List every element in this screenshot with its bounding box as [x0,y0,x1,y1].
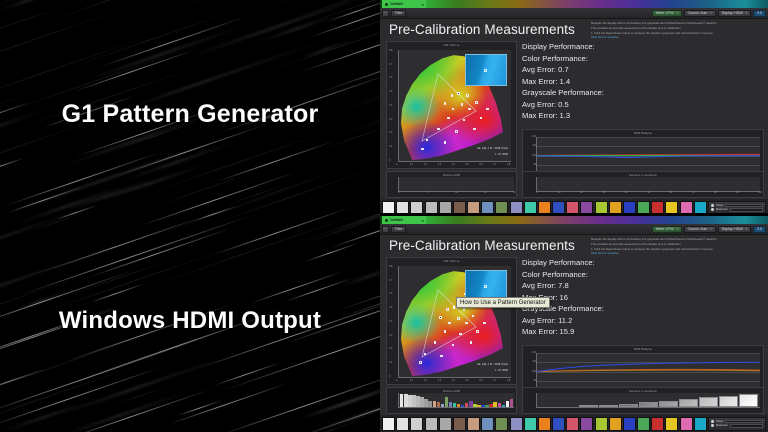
chevron-down-icon: ▾ [710,227,712,231]
color-swatch [382,417,395,431]
cie-measurement-point [466,94,469,97]
color-swatch [651,417,664,431]
grayscale-step-bars [537,393,760,407]
meter-dropdown-label: Meter: i1Pro [656,227,674,231]
output-levels-caption-bottom: Gamma / Luminance [523,389,763,393]
numeric-readout: 0.0 [753,226,766,234]
display-dropdown-label: Display: HDMI [722,11,743,15]
bar [465,403,468,407]
cie-measurement-point [446,308,449,311]
chevron-down-icon: ▾ [746,227,748,231]
cie-y-tick: 0.8 [389,265,392,268]
meter-dropdown-label: Meter: i1Pro [656,11,674,15]
cie-y-tick: 0.1 [389,361,392,364]
x-axis-tick: 20 [513,192,516,194]
rgb-balance-caption-top: RGB Balance [523,131,763,135]
panel-divider [380,213,768,216]
cie-measurement-point [468,108,471,111]
app-tab-top[interactable]: CalMAN × [382,0,426,8]
source-dropdown[interactable]: Source: Auto ▾ [684,10,715,18]
instruction-line-1: Measure the display with a combination o… [591,21,765,25]
title-gradient-strip-bottom: CalMAN × [380,216,768,224]
cie-y-tick: 0.3 [389,118,392,121]
app-tab-bottom[interactable]: CalMAN × [382,216,426,224]
cie-caption-top: CIE 1931 xy [387,43,516,47]
cie-measurement-point [452,344,455,347]
metric-row: Avg Error: 0.7 [522,64,632,76]
cie-x-tick: 0.4 [452,379,455,382]
cie-x-tick: 0.6 [479,379,482,382]
instructions-top: Measure the display with a combination o… [591,21,765,40]
calman-window-bottom: CalMAN × Files Meter: i1Pro ▾ Source: Au… [380,216,768,432]
meter-row-label: Measured [716,208,728,211]
grayscale-bar [579,405,597,407]
meter-dropdown[interactable]: Meter: i1Pro ▾ [652,226,682,234]
delta-e-caption-top: Delta E 2000 [387,173,516,177]
x-axis-tick: 0 [536,192,537,194]
grayscale-bar [679,399,697,407]
cie-y-tick: 0.2 [389,131,392,134]
bar [493,402,496,407]
bar [485,405,488,407]
y-axis-tick: 110 [532,361,536,363]
toolbar-left-group-bottom: Files [382,226,406,233]
delta-e-caption-bottom: Delta E 2000 [387,389,516,393]
output-levels-plot-top: 0102030405060708090100 [536,177,760,192]
bar [400,394,403,407]
cie-x-tick: 0.7 [493,379,496,382]
grayscale-bar [619,404,637,407]
delta-e-plot-top: 05101520 [398,177,514,192]
meter-row-label: Target [716,420,723,423]
bar [412,395,415,407]
cie-y-tick: 0.8 [389,49,392,52]
cie-x-tick: 0.2 [424,163,427,166]
bar [502,405,505,407]
source-dropdown-label: Source: Auto [688,227,707,231]
x-axis-tick: 70 [692,192,695,194]
cie-measurement-point [483,322,486,325]
metric-row: Display Performance: [522,41,632,53]
color-swatch [481,417,494,431]
title-gradient-strip-top: CalMAN × [380,0,768,8]
bar [433,401,436,407]
y-axis-tick: 90 [533,380,536,382]
metric-row: Avg Error: 0.5 [522,99,632,111]
toolbar-right-group-top: Meter: i1Pro ▾ Source: Auto ▾ Display: H… [652,10,766,18]
meter-row: Target [711,204,763,208]
left-label-top: G1 Pattern Generator [0,100,380,129]
cie-measurement-point [457,92,460,95]
x-axis-tick: 10 [455,192,458,194]
app-tab-label: CalMAN [390,218,403,222]
x-axis-tick: 40 [625,192,628,194]
grayscale-bar [719,396,737,407]
cie-measurement-point [486,108,489,111]
cie-x-tick: 0.6 [479,163,482,166]
cie-y-tick: 0.1 [389,145,392,148]
bar [461,405,464,407]
cie-measurement-point [476,330,479,333]
cie-measurement-point [439,316,442,319]
line-series-group [537,353,760,390]
cie-measurement-point [424,353,427,356]
cie-x-tick: 0 [396,379,397,382]
x-axis-tick: 30 [603,192,606,194]
instruction-line-3: 1. Click the Read Series button to measu… [591,31,765,35]
page-title-top: Pre-Calibration Measurements [389,22,575,37]
x-axis-tick: 50 [647,192,650,194]
meter-row-label: Measured [716,424,728,427]
cie-measurement-point [444,330,447,333]
cie-x-tick: 0.5 [465,163,468,166]
color-swatch [552,417,565,431]
instruction-line-2: This provides an accurate assessment of … [591,242,765,246]
grayscale-bar [739,394,757,407]
close-icon[interactable]: × [422,2,424,7]
bar [449,402,452,407]
cie-measurement-point [421,148,424,151]
output-levels-plot-bottom [536,393,760,408]
display-dropdown-label: Display: HDMI [722,227,743,231]
y-axis-tick: 120 [532,136,536,138]
toolbar-left-group-top: Files [382,10,406,17]
cie-measurement-point [463,308,466,311]
cie-measurement-point [452,108,455,111]
metric-row: Grayscale Performance: [522,87,632,99]
cie-measurement-point [426,139,429,142]
x-axis-tick: 20 [580,192,583,194]
output-levels-chart-top[interactable]: Gamma / Luminance 0102030405060708090100 [522,171,764,198]
numeric-readout: 0.0 [753,10,766,18]
cie-caption-bottom: CIE 1931 xy [387,259,516,263]
cie-measurement-point [455,130,458,133]
instruction-line-4: Click Next to continue. [591,251,765,255]
bar [510,399,513,407]
cie-y-tick: 0.2 [389,347,392,350]
color-swatch [694,417,707,431]
cie-measurement-point [453,306,456,309]
bar [408,395,411,407]
metric-row: Avg Error: 11.2 [522,315,632,327]
bar [404,394,407,407]
cie-x-tick: 0.7 [493,163,496,166]
cie-measurement-point [472,315,475,318]
meter-readout-box[interactable]: TargetMeasured [708,417,766,431]
metric-row: Color Performance: [522,269,632,281]
cie-measurement-point [473,128,476,131]
cie-measurement-point [448,322,451,325]
cie-measurement-point [440,355,443,358]
panel-body-top: Pre-Calibration Measurements Measure the… [380,19,768,199]
color-swatch [410,417,423,431]
color-swatch [396,417,409,431]
color-swatch [580,417,593,431]
x-axis-tick: 0 [398,192,399,194]
cie-y-tick: 0.5 [389,306,392,309]
cie-measurement-point [444,141,447,144]
instructions-bottom: Measure the display with a combination o… [591,237,765,256]
delta-e-plot-bottom [398,393,514,408]
bar [420,397,423,407]
x-axis-tick: 15 [484,192,487,194]
cie-measurement-point [459,333,462,336]
cie-measurement-point [461,103,464,106]
meter-row: Target [711,420,763,424]
cie-measurement-point [434,341,437,344]
status-dot-icon [711,208,714,211]
cie-note-line1-top: SE, CIE, 2 Pt - RGB Triplet [477,147,508,150]
cie-y-tick: 0.4 [389,320,392,323]
x-axis-tick: 80 [714,192,717,194]
instruction-line-2: This provides an accurate assessment of … [591,26,765,30]
cie-chromaticity-chart-bottom[interactable]: CIE 1931 xy SE, CIE, 2 Pt - RGB Triplet … [386,257,517,385]
cie-measurement-point [437,128,440,131]
metric-row: Display Performance: [522,257,632,269]
cie-y-tick: 0.6 [389,76,392,79]
cie-x-tick: 0.4 [452,163,455,166]
page-title-bottom: Pre-Calibration Measurements [389,238,575,253]
meter-value-field [725,420,763,424]
color-swatch [680,417,693,431]
y-axis-tick: 120 [532,352,536,354]
y-axis-tick: 100 [532,155,536,157]
grayscale-bar [699,397,717,407]
output-levels-chart-bottom[interactable]: Gamma / Luminance [522,387,764,414]
cie-x-tick: 0.3 [438,163,441,166]
chevron-down-icon: ▾ [677,11,679,15]
metric-row: Max Error: 1.4 [522,76,632,88]
files-button[interactable]: Files [391,10,406,17]
menu-icon[interactable] [382,226,389,233]
cie-y-tick: 0.5 [389,90,392,93]
left-label-bottom: Windows HDMI Output [0,307,380,335]
source-dropdown[interactable]: Source: Auto ▾ [684,226,715,234]
cie-y-tick: 0.3 [389,334,392,337]
x-axis-tick: 100 [758,192,762,194]
cie-measurement-point [447,117,450,120]
display-dropdown[interactable]: Display: HDMI ▾ [718,10,752,18]
files-button[interactable]: Files [391,226,406,233]
cie-x-tick: 0.8 [507,163,510,166]
y-axis-tick: 110 [532,145,536,147]
streak-texture [0,0,380,432]
cie-note-line2-top: 1 - 2C 2000 [494,153,508,156]
meter-value-field [730,208,763,212]
color-swatch [453,417,466,431]
status-dot-icon [711,204,714,207]
cie-y-tick: 0 [389,159,390,162]
color-swatch [439,417,452,431]
color-swatch [595,417,608,431]
colorchecker-swatch-strip-bottom: TargetMeasured [380,415,768,432]
toolbar-top: Files Meter: i1Pro ▾ Source: Auto ▾ Disp… [380,8,768,19]
instruction-line-4: Click Next to continue. [591,35,765,39]
grayscale-bar [659,401,677,407]
cie-y-tick: 0.7 [389,279,392,282]
x-axis-tick: 90 [736,192,739,194]
cie-note-line1-bottom: SE, CIE, 2 Pt - RGB Triplet [477,363,508,366]
cie-x-tick: 0 [396,163,397,166]
cie-measurement-point [457,317,460,320]
panel-body-bottom: Pre-Calibration Measurements Measure the… [380,235,768,415]
cie-note-line2-bottom: 1 - 2C 2000 [494,369,508,372]
inset-target-marker [484,69,487,72]
delta-e-chart-bottom[interactable]: Delta E 2000 [386,387,517,414]
bar [498,403,501,407]
bar [477,405,480,407]
metric-row: Avg Error: 7.8 [522,280,632,292]
calman-window-top: CalMAN × Files Meter: i1Pro ▾ Source: Au… [380,0,768,216]
cie-x-tick: 0.3 [438,379,441,382]
delta-e-bars [399,393,514,407]
instruction-line-3: 1. Click the Read Series button to measu… [591,247,765,251]
meter-row: Measured [711,424,763,428]
cie-y-tick: 0.6 [389,292,392,295]
toolbar-right-group-bottom: Meter: i1Pro ▾ Source: Auto ▾ Display: H… [652,226,766,234]
chevron-down-icon: ▾ [746,11,748,15]
cie-measurement-point [419,361,422,364]
bar [469,401,472,407]
bar [424,399,427,407]
metric-row: Color Performance: [522,53,632,65]
cie-y-tick: 0.4 [389,104,392,107]
instruction-line-1: Measure the display with a combination o… [591,237,765,241]
cie-y-tick: 0 [389,375,390,378]
cie-plot-area-bottom: SE, CIE, 2 Pt - RGB Triplet 1 - 2C 2000 [398,266,511,378]
rgb-balance-plot-bottom: 1201101009080051015202530354045505560657… [536,353,760,391]
rgb-balance-plot-top: 1201101009080051015202530354045505560657… [536,137,760,175]
cie-chromaticity-chart-top[interactable]: CIE 1931 xy SE, CIE, 2 Pt - RGB Triplet … [386,41,517,169]
cie-plot-area-top: SE, CIE, 2 Pt - RGB Triplet 1 - 2C 2000 [398,50,511,162]
meter-row-label: Target [716,204,723,207]
close-icon[interactable]: × [422,218,424,223]
status-dot-icon [711,420,714,423]
grayscale-bar [639,402,657,407]
color-swatch [467,417,480,431]
calman-logo-icon [385,219,388,222]
color-swatch [495,417,508,431]
cie-measurement-point [465,322,468,325]
source-dropdown-label: Source: Auto [688,11,707,15]
y-axis-tick: 100 [532,371,536,373]
cie-measurement-point [480,117,483,120]
bar [428,401,431,407]
line-series-group [537,137,760,174]
calman-screen-recording: CalMAN × Files Meter: i1Pro ▾ Source: Au… [380,0,768,432]
color-swatch [425,417,438,431]
cie-x-tick: 0.1 [410,379,413,382]
bar [453,403,456,407]
color-swatch [637,417,650,431]
inset-target-marker [484,285,487,288]
bar [437,402,440,407]
meter-value-field [730,424,763,428]
bar [441,404,444,407]
metrics-list-top: Display Performance:Color Performance:Av… [522,41,632,122]
cie-measurement-point [463,119,466,122]
color-swatch [510,417,523,431]
cie-measurement-point [451,94,454,97]
meter-value-field [725,204,763,208]
grayscale-bar [599,405,617,407]
cie-x-tick: 0.1 [410,163,413,166]
chevron-down-icon: ▾ [677,227,679,231]
output-levels-caption-top: Gamma / Luminance [523,173,763,177]
menu-icon[interactable] [382,10,389,17]
rgb-balance-caption-bottom: RGB Balance [523,347,763,351]
color-swatch [566,417,579,431]
bar [506,401,509,407]
bar [457,404,460,407]
pattern-generator-tooltip: How to Use a Pattern Generator [456,297,550,308]
left-title-pane: G1 Pattern Generator Windows HDMI Output [0,0,380,432]
cie-x-tick: 0.8 [507,379,510,382]
chevron-down-icon: ▾ [710,11,712,15]
x-axis-tick: 60 [670,192,673,194]
color-swatch [623,417,636,431]
x-axis-tick: 10 [558,192,561,194]
cie-measurement-point [475,101,478,104]
cie-x-tick: 0.5 [465,379,468,382]
bar [481,405,484,407]
meter-row: Measured [711,208,763,212]
app-tab-label: CalMAN [390,2,403,6]
status-dot-icon [711,424,714,427]
bar [445,397,448,407]
toolbar-bottom: Files Meter: i1Pro ▾ Source: Auto ▾ Disp… [380,224,768,235]
metric-row: Max Error: 15.9 [522,326,632,338]
display-dropdown[interactable]: Display: HDMI ▾ [718,226,752,234]
delta-e-chart-top[interactable]: Delta E 2000 05101520 [386,171,517,198]
meter-dropdown[interactable]: Meter: i1Pro ▾ [652,10,682,18]
y-axis-tick: 90 [533,164,536,166]
color-swatch [609,417,622,431]
color-swatch [538,417,551,431]
color-swatch [665,417,678,431]
metric-row: Max Error: 1.3 [522,110,632,122]
bar [473,404,476,408]
bar [489,404,492,407]
cie-zoom-inset-top [465,54,507,86]
color-swatch [524,417,537,431]
cie-measurement-point [470,341,473,344]
x-axis-tick: 5 [427,192,428,194]
bar [416,396,419,407]
calman-logo-icon [385,3,388,6]
cie-x-tick: 0.2 [424,379,427,382]
cie-y-tick: 0.7 [389,63,392,66]
